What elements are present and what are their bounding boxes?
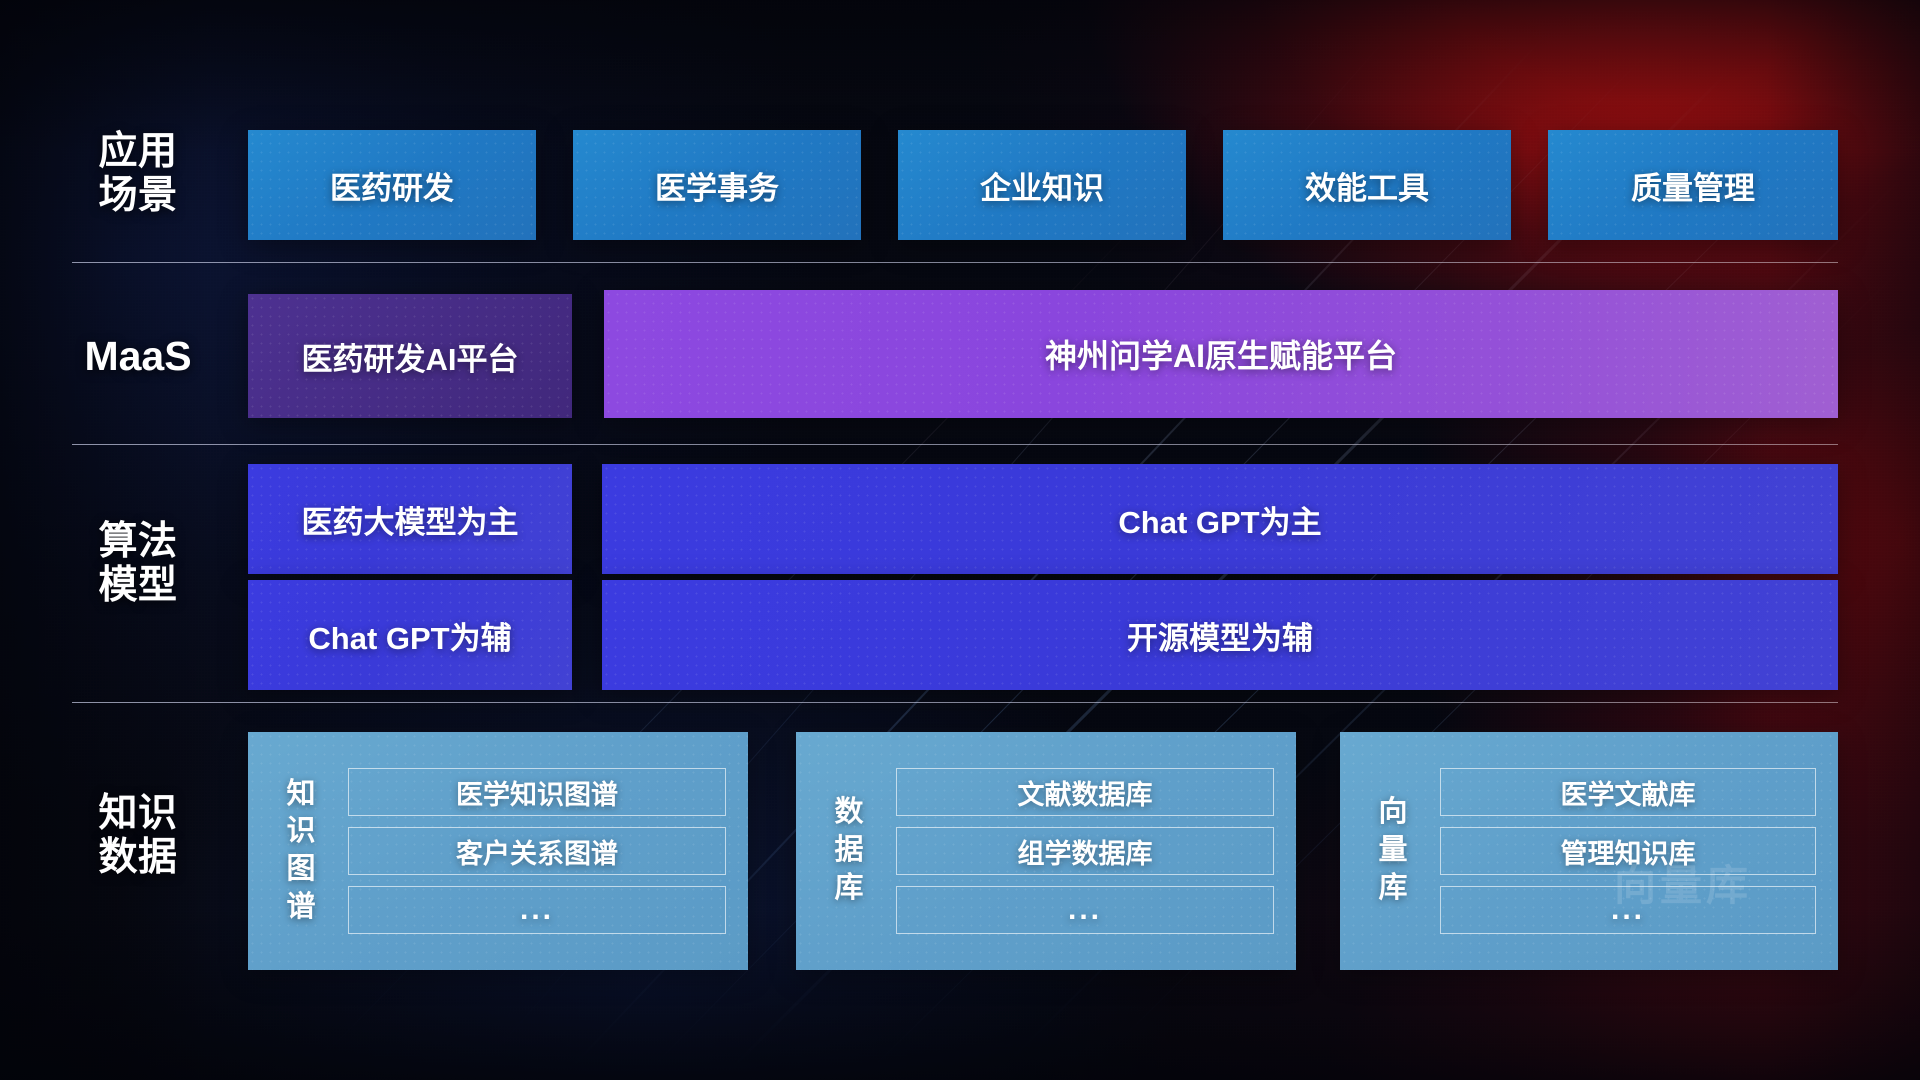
row-label-application-line1: 应用 bbox=[72, 130, 204, 174]
algo-right-box-label-0: Chat GPT为主 bbox=[1118, 497, 1321, 542]
app-box-label-1: 医学事务 bbox=[655, 163, 779, 208]
knowledge-item-1-2[interactable]: ... bbox=[896, 886, 1274, 934]
row-label-application: 应用 场景 bbox=[72, 130, 204, 217]
maas-main-box[interactable]: 神州问学AI原生赋能平台 bbox=[604, 290, 1838, 418]
row-label-knowledge-line2: 数据 bbox=[72, 836, 204, 880]
app-box-label-4: 质量管理 bbox=[1631, 163, 1755, 208]
row-label-algorithm-line1: 算法 bbox=[72, 520, 204, 564]
knowledge-panel-items-0: 医学知识图谱 客户关系图谱 ... bbox=[348, 768, 726, 934]
app-box-0[interactable]: 医药研发 bbox=[248, 130, 536, 240]
knowledge-panel-title-char: 库 bbox=[818, 870, 880, 908]
maas-left-box-label: 医药研发AI平台 bbox=[302, 334, 519, 379]
knowledge-panel-title-1: 数 据 库 bbox=[818, 794, 880, 907]
knowledge-panel-1[interactable]: 数 据 库 文献数据库 组学数据库 ... bbox=[796, 732, 1296, 970]
knowledge-item-2-0[interactable]: 医学文献库 bbox=[1440, 768, 1816, 816]
app-box-2[interactable]: 企业知识 bbox=[898, 130, 1186, 240]
divider-application-maas bbox=[72, 262, 1838, 263]
app-box-3[interactable]: 效能工具 bbox=[1223, 130, 1511, 240]
algo-right-box-1[interactable]: 开源模型为辅 bbox=[602, 580, 1838, 690]
knowledge-panel-title-char: 向 bbox=[1362, 794, 1424, 832]
knowledge-panel-title-2: 向 量 库 bbox=[1362, 794, 1424, 907]
knowledge-panel-items-1: 文献数据库 组学数据库 ... bbox=[896, 768, 1274, 934]
knowledge-panel-title-char: 图 bbox=[270, 851, 332, 889]
knowledge-item-0-1[interactable]: 客户关系图谱 bbox=[348, 827, 726, 875]
knowledge-item-2-1[interactable]: 管理知识库 bbox=[1440, 827, 1816, 875]
knowledge-panel-title-char: 库 bbox=[1362, 870, 1424, 908]
algo-right-box-0[interactable]: Chat GPT为主 bbox=[602, 464, 1838, 574]
divider-maas-algorithm bbox=[72, 444, 1838, 445]
knowledge-panel-0[interactable]: 知 识 图 谱 医学知识图谱 客户关系图谱 ... bbox=[248, 732, 748, 970]
algo-left-box-1[interactable]: Chat GPT为辅 bbox=[248, 580, 572, 690]
row-label-maas: MaaS bbox=[72, 334, 204, 380]
app-box-4[interactable]: 质量管理 bbox=[1548, 130, 1838, 240]
knowledge-item-0-0[interactable]: 医学知识图谱 bbox=[348, 768, 726, 816]
knowledge-panel-2[interactable]: 向量库 向 量 库 医学文献库 管理知识库 ... bbox=[1340, 732, 1838, 970]
app-box-1[interactable]: 医学事务 bbox=[573, 130, 861, 240]
knowledge-item-2-2[interactable]: ... bbox=[1440, 886, 1816, 934]
row-label-knowledge-line1: 知识 bbox=[72, 792, 204, 836]
maas-left-box[interactable]: 医药研发AI平台 bbox=[248, 294, 572, 418]
slide-canvas: 应用 场景 医药研发 医学事务 企业知识 效能工具 质量管理 bbox=[0, 0, 1920, 1080]
app-box-label-3: 效能工具 bbox=[1305, 163, 1429, 208]
knowledge-panel-title-char: 量 bbox=[1362, 832, 1424, 870]
knowledge-item-1-1[interactable]: 组学数据库 bbox=[896, 827, 1274, 875]
knowledge-panel-title-char: 数 bbox=[818, 794, 880, 832]
maas-main-box-label: 神州问学AI原生赋能平台 bbox=[1045, 331, 1397, 377]
knowledge-panel-items-2: 医学文献库 管理知识库 ... bbox=[1440, 768, 1816, 934]
algo-left-box-0[interactable]: 医药大模型为主 bbox=[248, 464, 572, 574]
knowledge-panel-title-char: 谱 bbox=[270, 889, 332, 927]
knowledge-panel-title-0: 知 识 图 谱 bbox=[270, 776, 332, 927]
algo-left-box-label-0: 医药大模型为主 bbox=[302, 497, 519, 542]
knowledge-item-1-0[interactable]: 文献数据库 bbox=[896, 768, 1274, 816]
row-label-application-line2: 场景 bbox=[72, 174, 204, 218]
row-label-algorithm: 算法 模型 bbox=[72, 520, 204, 607]
knowledge-item-0-2[interactable]: ... bbox=[348, 886, 726, 934]
knowledge-panel-title-char: 识 bbox=[270, 813, 332, 851]
algo-right-box-label-1: 开源模型为辅 bbox=[1127, 613, 1313, 658]
row-label-knowledge: 知识 数据 bbox=[72, 792, 204, 879]
app-box-label-0: 医药研发 bbox=[330, 163, 454, 208]
row-label-algorithm-line2: 模型 bbox=[72, 564, 204, 608]
app-box-label-2: 企业知识 bbox=[980, 163, 1104, 208]
algo-left-box-label-1: Chat GPT为辅 bbox=[308, 613, 511, 658]
knowledge-panel-title-char: 据 bbox=[818, 832, 880, 870]
knowledge-panel-title-char: 知 bbox=[270, 776, 332, 814]
divider-algorithm-knowledge bbox=[72, 702, 1838, 703]
